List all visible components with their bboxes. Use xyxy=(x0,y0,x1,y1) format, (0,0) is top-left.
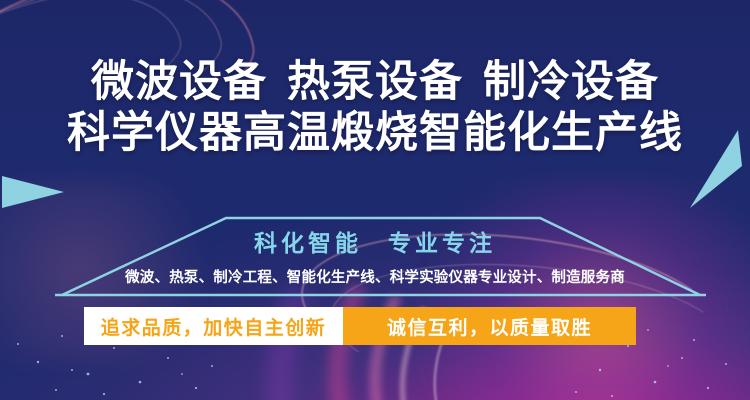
tagline-left: 科化智能 xyxy=(254,230,362,256)
headline-part-1: 微波设备 xyxy=(91,58,267,106)
subline-text: 微波、热泵、制冷工程、智能化生产线、科学实验仪器专业设计、制造服务商 xyxy=(0,266,750,287)
headline-block: 微波设备热泵设备制冷设备 科学仪器高温煅烧智能化生产线 xyxy=(0,60,750,156)
headline-part-4: 科学仪器 xyxy=(67,109,243,157)
tagline-right: 专业专注 xyxy=(388,230,496,256)
slogan-primary-button[interactable]: 追求品质，加快自主创新 xyxy=(84,307,343,345)
headline-part-5: 高温煅烧 xyxy=(243,109,419,157)
tagline-row: 科化智能专业专注 xyxy=(0,224,750,258)
slogan-bar-row: 追求品质，加快自主创新 诚信互利，以质量取胜 xyxy=(84,307,636,345)
triangle-right-icon-left xyxy=(2,176,64,208)
headline-part-6: 智能化生产线 xyxy=(419,109,683,157)
headline-part-3: 制冷设备 xyxy=(483,58,659,106)
slogan-secondary-button[interactable]: 诚信互利，以质量取胜 xyxy=(343,307,636,345)
headline-line-1: 微波设备热泵设备制冷设备 xyxy=(0,60,750,106)
promo-banner: 微波设备热泵设备制冷设备 科学仪器高温煅烧智能化生产线 科化智能专业专注 微波、… xyxy=(0,0,750,400)
headline-line-2: 科学仪器高温煅烧智能化生产线 xyxy=(0,111,750,157)
headline-part-2: 热泵设备 xyxy=(287,58,463,106)
